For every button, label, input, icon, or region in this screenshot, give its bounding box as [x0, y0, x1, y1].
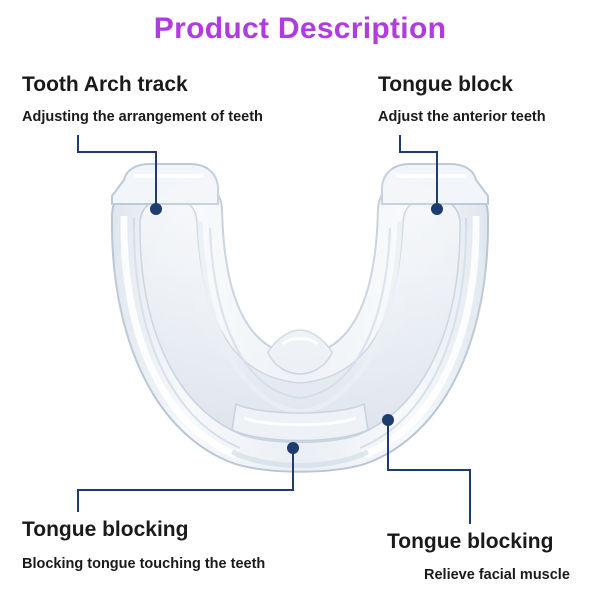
callout-title-tooth-arch-track: Tooth Arch track [22, 73, 188, 97]
callout-title-tongue-blocking-right: Tongue blocking [387, 530, 553, 554]
callout-title-tongue-block: Tongue block [378, 73, 513, 97]
product-description-infographic: Product Description Tooth Arch track Adj… [0, 0, 600, 600]
callout-title-tongue-blocking-left: Tongue blocking [22, 518, 188, 542]
callout-subtitle-tongue-blocking-left: Blocking tongue touching the teeth [22, 556, 265, 572]
callout-subtitle-tongue-block: Adjust the anterior teeth [378, 109, 546, 125]
callout-subtitle-tooth-arch-track: Adjusting the arrangement of teeth [22, 109, 263, 125]
callout-subtitle-tongue-blocking-right: Relieve facial muscle [424, 567, 570, 583]
page-title: Product Description [0, 12, 600, 46]
